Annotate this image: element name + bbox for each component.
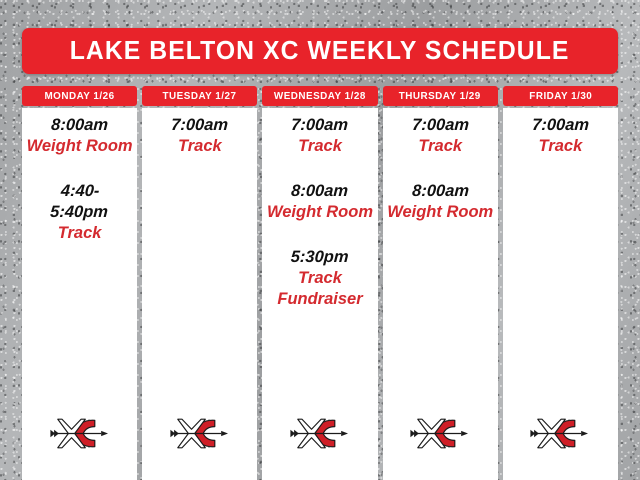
day-header-label: WEDNESDAY 1/28 <box>274 91 366 102</box>
day-header-wednesday: WEDNESDAY 1/28 <box>262 86 377 106</box>
event-time: 7:00am <box>383 115 498 136</box>
day-body-thursday: 7:00amTrack8:00amWeight Room <box>383 108 498 480</box>
poster-title-banner: LAKE BELTON XC WEEKLY SCHEDULE <box>22 28 618 74</box>
xc-logo-icon <box>168 415 232 452</box>
schedule-entry: 8:00amWeight Room <box>383 181 498 223</box>
day-body-monday: 8:00amWeight Room4:40- 5:40pmTrack <box>22 108 137 480</box>
event-location: Track <box>142 136 257 157</box>
day-header-tuesday: TUESDAY 1/27 <box>142 86 257 106</box>
event-time: 7:00am <box>503 115 618 136</box>
day-header-label: THURSDAY 1/29 <box>399 91 481 102</box>
day-header-label: TUESDAY 1/27 <box>163 91 237 102</box>
event-location: Track Fundraiser <box>262 268 377 310</box>
event-time: 8:00am <box>383 181 498 202</box>
schedule-entry: 4:40- 5:40pmTrack <box>22 181 137 244</box>
event-location: Track <box>262 136 377 157</box>
column-logo <box>142 415 257 452</box>
day-header-monday: MONDAY 1/26 <box>22 86 137 106</box>
event-location: Weight Room <box>262 202 377 223</box>
day-header-thursday: THURSDAY 1/29 <box>383 86 498 106</box>
schedule-entry: 7:00amTrack <box>142 115 257 157</box>
schedule-entry: 5:30pmTrack Fundraiser <box>262 247 377 310</box>
day-column-tuesday: TUESDAY 1/277:00amTrack <box>142 86 257 480</box>
column-logo <box>22 415 137 452</box>
schedule-entry: 7:00amTrack <box>262 115 377 157</box>
page-title: LAKE BELTON XC WEEKLY SCHEDULE <box>70 37 570 66</box>
day-column-wednesday: WEDNESDAY 1/287:00amTrack8:00amWeight Ro… <box>262 86 377 480</box>
event-time: 7:00am <box>142 115 257 136</box>
day-header-friday: FRIDAY 1/30 <box>503 86 618 106</box>
day-column-thursday: THURSDAY 1/297:00amTrack8:00amWeight Roo… <box>383 86 498 480</box>
column-logo <box>383 415 498 452</box>
xc-logo-icon <box>528 415 592 452</box>
xc-logo-icon <box>48 415 112 452</box>
schedule-entry: 8:00amWeight Room <box>262 181 377 223</box>
event-time: 4:40- 5:40pm <box>22 181 137 223</box>
day-body-wednesday: 7:00amTrack8:00amWeight Room5:30pmTrack … <box>262 108 377 480</box>
schedule-entry: 7:00amTrack <box>383 115 498 157</box>
column-logo <box>503 415 618 452</box>
event-location: Track <box>22 223 137 244</box>
day-column-monday: MONDAY 1/268:00amWeight Room4:40- 5:40pm… <box>22 86 137 480</box>
event-location: Weight Room <box>383 202 498 223</box>
event-time: 8:00am <box>262 181 377 202</box>
column-logo <box>262 415 377 452</box>
event-location: Weight Room <box>22 136 137 157</box>
schedule-entry: 7:00amTrack <box>503 115 618 157</box>
weekly-schedule-poster: LAKE BELTON XC WEEKLY SCHEDULE MONDAY 1/… <box>0 0 640 480</box>
day-body-friday: 7:00amTrack <box>503 108 618 480</box>
event-location: Track <box>503 136 618 157</box>
event-time: 7:00am <box>262 115 377 136</box>
day-body-tuesday: 7:00amTrack <box>142 108 257 480</box>
day-header-label: FRIDAY 1/30 <box>529 91 592 102</box>
event-location: Track <box>383 136 498 157</box>
event-time: 5:30pm <box>262 247 377 268</box>
event-time: 8:00am <box>22 115 137 136</box>
schedule-entry: 8:00amWeight Room <box>22 115 137 157</box>
schedule-columns: MONDAY 1/268:00amWeight Room4:40- 5:40pm… <box>22 86 618 480</box>
xc-logo-icon <box>288 415 352 452</box>
day-header-label: MONDAY 1/26 <box>45 91 115 102</box>
xc-logo-icon <box>408 415 472 452</box>
day-column-friday: FRIDAY 1/307:00amTrack <box>503 86 618 480</box>
